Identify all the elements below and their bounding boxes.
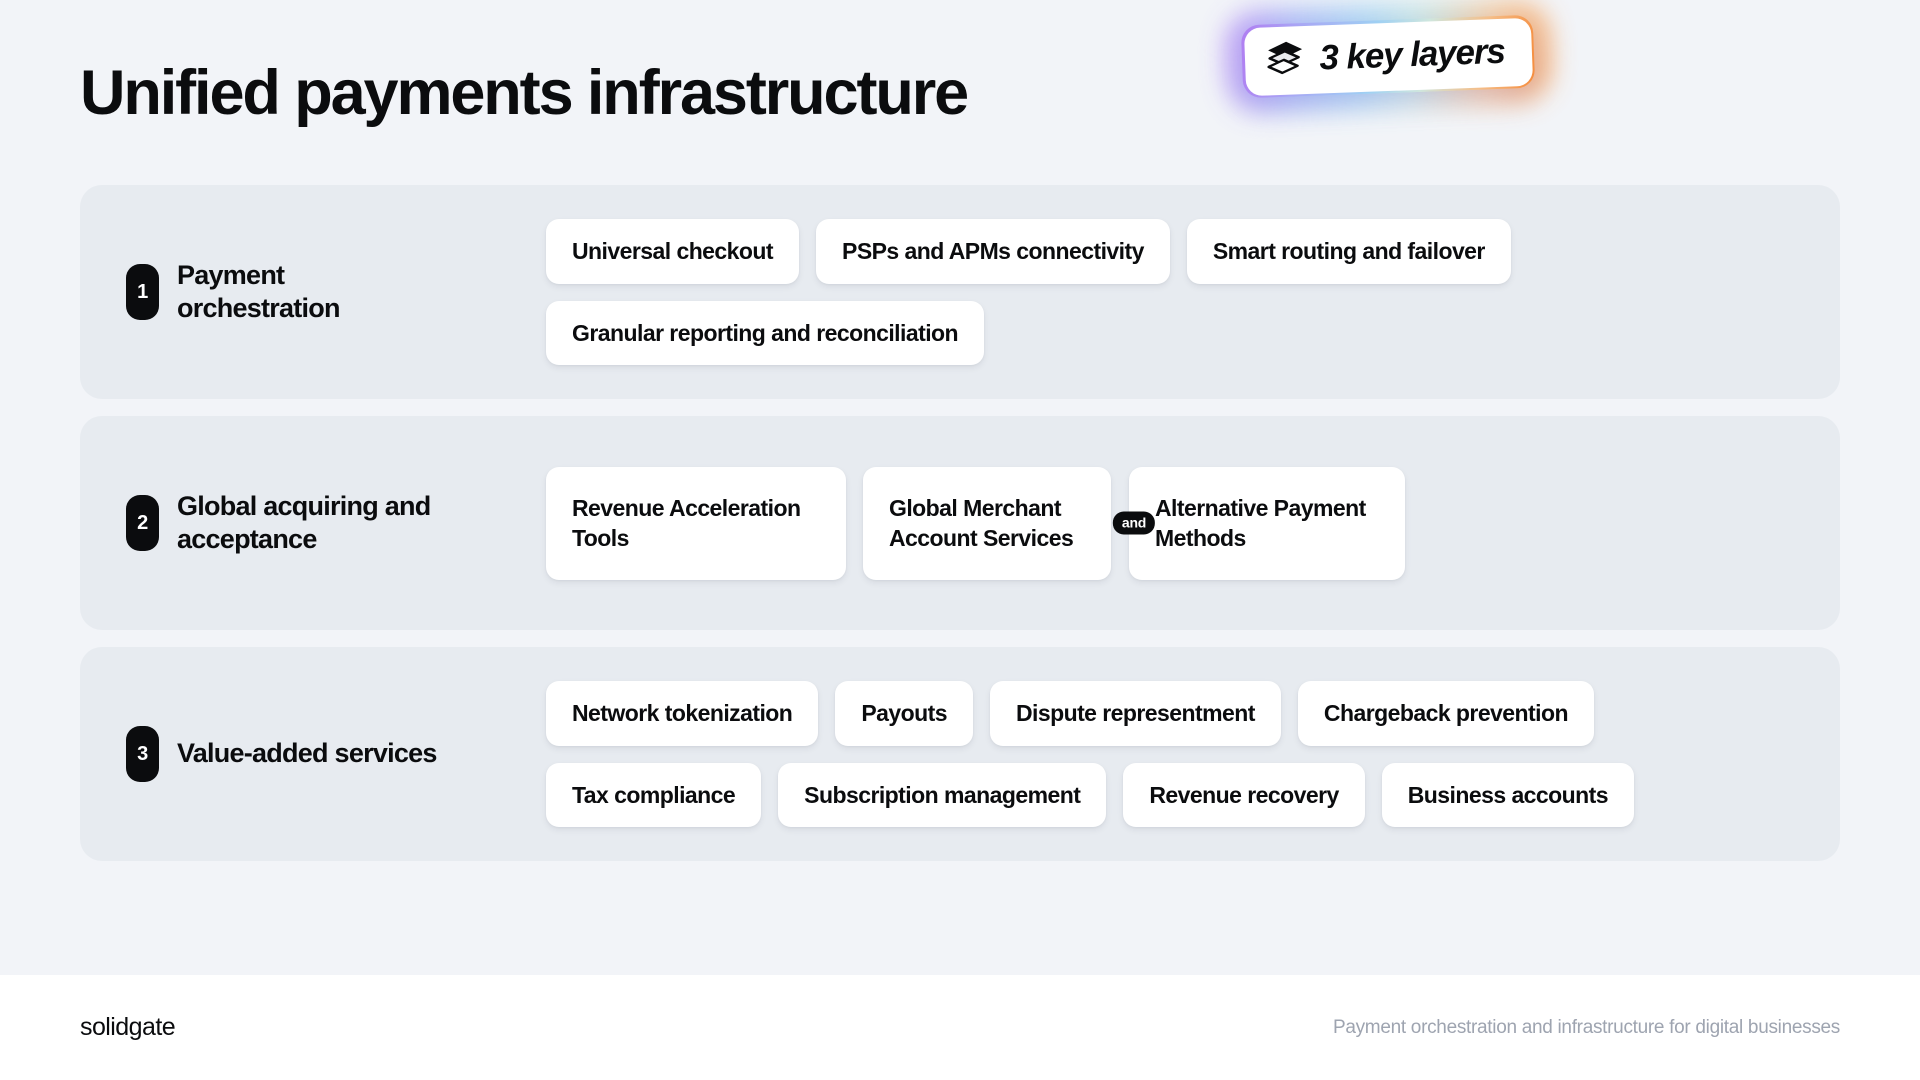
layer-2-title: Global acquiring and acceptance <box>177 490 437 557</box>
badge-label: 3 key layers <box>1319 32 1506 79</box>
page-title: Unified payments infrastructure <box>80 62 967 125</box>
layer-row-3: 3 Value-added services Network tokenizat… <box>80 647 1840 861</box>
layer-row-2: 2 Global acquiring and acceptance Revenu… <box>80 416 1840 630</box>
solidgate-logo[interactable]: solidgate <box>80 1013 175 1042</box>
layer-2-chips: Revenue Acceleration Tools Global Mercha… <box>546 467 1810 580</box>
and-connector-badge: and <box>1113 512 1155 535</box>
layer-1-chips: Universal checkout PSPs and APMs connect… <box>546 219 1810 365</box>
footer-tagline: Payment orchestration and infrastructure… <box>1333 1017 1840 1039</box>
chip-revenue-recovery[interactable]: Revenue recovery <box>1123 763 1364 827</box>
layer-2-chip-group: Global Merchant Account Services and Alt… <box>863 467 1405 580</box>
chip-global-merchant-account-services-label: Global Merchant Account Services <box>889 493 1085 554</box>
badge-inner: 3 key layers <box>1243 17 1533 95</box>
layer-2-head: 2 Global acquiring and acceptance <box>126 490 546 557</box>
chip-granular-reporting-and-reconciliation[interactable]: Granular reporting and reconciliation <box>546 301 984 365</box>
chip-payouts[interactable]: Payouts <box>835 681 973 745</box>
chip-subscription-management[interactable]: Subscription management <box>778 763 1106 827</box>
layer-3-number: 3 <box>126 726 159 782</box>
slide-content: Unified payments infrastructure <box>0 0 1920 975</box>
chip-universal-checkout[interactable]: Universal checkout <box>546 219 799 283</box>
chip-business-accounts[interactable]: Business accounts <box>1382 763 1634 827</box>
chip-chargeback-prevention[interactable]: Chargeback prevention <box>1298 681 1594 745</box>
chip-alternative-payment-methods-label: Alternative Payment Methods <box>1155 493 1379 554</box>
layer-3-chips: Network tokenization Payouts Dispute rep… <box>546 681 1810 827</box>
chip-psps-and-apms-connectivity[interactable]: PSPs and APMs connectivity <box>816 219 1170 283</box>
layers-list: 1 Payment orchestration Universal checko… <box>80 185 1840 861</box>
chip-smart-routing-and-failover[interactable]: Smart routing and failover <box>1187 219 1511 283</box>
chip-tax-compliance[interactable]: Tax compliance <box>546 763 761 827</box>
chip-revenue-acceleration-tools[interactable]: Revenue Acceleration Tools <box>546 467 846 580</box>
layer-1-number: 1 <box>126 264 159 320</box>
layer-2-number: 2 <box>126 495 159 551</box>
key-layers-badge: 3 key layers <box>1241 15 1536 99</box>
header: Unified payments infrastructure <box>80 0 1840 185</box>
chip-global-merchant-account-services[interactable]: Global Merchant Account Services <box>863 467 1111 580</box>
layer-3-head: 3 Value-added services <box>126 726 546 782</box>
chip-network-tokenization[interactable]: Network tokenization <box>546 681 818 745</box>
layer-1-title: Payment orchestration <box>177 259 437 326</box>
layer-row-1: 1 Payment orchestration Universal checko… <box>80 185 1840 399</box>
badge-gradient-border: 3 key layers <box>1241 15 1536 99</box>
chip-revenue-acceleration-tools-label: Revenue Acceleration Tools <box>572 493 820 554</box>
slide-root: Unified payments infrastructure <box>0 0 1920 1080</box>
layers-icon <box>1266 39 1307 81</box>
layer-1-head: 1 Payment orchestration <box>126 259 546 326</box>
layer-3-title: Value-added services <box>177 737 437 770</box>
chip-alternative-payment-methods[interactable]: Alternative Payment Methods <box>1129 467 1405 580</box>
chip-dispute-representment[interactable]: Dispute representment <box>990 681 1281 745</box>
footer: solidgate Payment orchestration and infr… <box>0 975 1920 1080</box>
